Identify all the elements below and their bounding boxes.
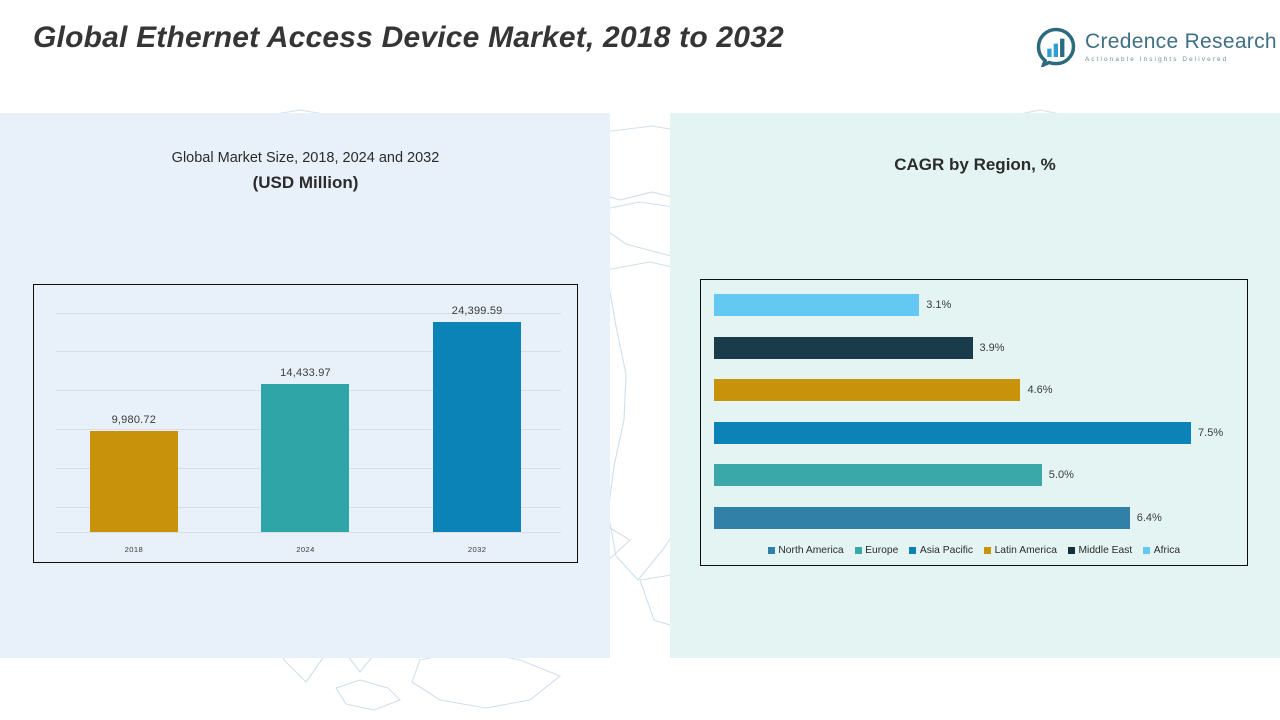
bar-label-2024: 2024 xyxy=(228,545,383,554)
brand-logo: Credence Research Actionable Insights De… xyxy=(1036,27,1277,67)
hbar-value-latin-america: 4.6% xyxy=(1027,384,1052,396)
hbar-value-asia-pacific: 7.5% xyxy=(1198,427,1223,439)
bar-label-2032: 2032 xyxy=(400,545,555,554)
hbar-value-middle-east: 3.9% xyxy=(980,342,1005,354)
hbar-latin-america[interactable] xyxy=(714,379,1020,401)
left-chart-heading-line2: (USD Million) xyxy=(33,173,578,193)
bar-group-2032[interactable]: 24,399.59 2032 xyxy=(400,285,555,532)
hbar-value-north-america: 6.4% xyxy=(1137,512,1162,524)
legend-item-europe[interactable]: Europe xyxy=(855,545,899,556)
page-title: Global Ethernet Access Device Market, 20… xyxy=(33,18,793,58)
hbar-row-europe[interactable]: 5.0% xyxy=(714,464,1247,486)
hbar-row-latin-america[interactable]: 4.6% xyxy=(714,379,1247,401)
bar-label-2018: 2018 xyxy=(57,545,212,554)
legend-swatch-asia-pacific xyxy=(909,547,916,554)
hbar-row-asia-pacific[interactable]: 7.5% xyxy=(714,422,1247,444)
bar-value-2032: 24,399.59 xyxy=(452,305,503,317)
hbar-value-europe: 5.0% xyxy=(1049,469,1074,481)
hbar-north-america[interactable] xyxy=(714,507,1130,529)
hbar-row-middle-east[interactable]: 3.9% xyxy=(714,337,1247,359)
bar-value-2018: 9,980.72 xyxy=(112,414,156,426)
market-size-bar-chart: 9,980.72 2018 14,433.97 2024 24,399.59 2… xyxy=(33,284,578,563)
legend-swatch-africa xyxy=(1143,547,1150,554)
logo-name: Credence Research xyxy=(1085,31,1277,53)
bar-2018[interactable] xyxy=(90,431,178,532)
bar-2024[interactable] xyxy=(261,384,349,532)
legend-item-africa[interactable]: Africa xyxy=(1143,545,1180,556)
legend-swatch-europe xyxy=(855,547,862,554)
legend-item-asia-pacific[interactable]: Asia Pacific xyxy=(909,545,973,556)
legend-swatch-latin-america xyxy=(984,547,991,554)
hbar-europe[interactable] xyxy=(714,464,1042,486)
speech-bubble-bar-chart-icon xyxy=(1036,27,1076,67)
legend-label-africa: Africa xyxy=(1154,545,1180,556)
hbar-asia-pacific[interactable] xyxy=(714,422,1191,444)
legend-item-latin-america[interactable]: Latin America xyxy=(984,545,1057,556)
legend-label-europe: Europe xyxy=(865,545,898,556)
logo-tagline: Actionable Insights Delivered xyxy=(1085,56,1277,63)
right-chart-heading: CAGR by Region, % xyxy=(670,155,1280,175)
chart-legend: North America Europe Asia Pacific Latin … xyxy=(701,545,1247,556)
bar-group-2018[interactable]: 9,980.72 2018 xyxy=(57,285,212,532)
cagr-by-region-bar-chart: 3.1% 3.9% 4.6% 7.5% 5.0% 6.4% xyxy=(700,279,1248,566)
legend-label-latin-america: Latin America xyxy=(995,545,1057,556)
legend-swatch-north-america xyxy=(768,547,775,554)
bar-group-2024[interactable]: 14,433.97 2024 xyxy=(228,285,383,532)
bar-value-2024: 14,433.97 xyxy=(280,367,331,379)
logo-text-block: Credence Research Actionable Insights De… xyxy=(1085,31,1277,63)
legend-item-middle-east[interactable]: Middle East xyxy=(1068,545,1132,556)
hbar-row-north-america[interactable]: 6.4% xyxy=(714,507,1247,529)
vertical-bars-container: 9,980.72 2018 14,433.97 2024 24,399.59 2… xyxy=(34,285,577,562)
hbar-africa[interactable] xyxy=(714,294,919,316)
left-chart-heading-line1: Global Market Size, 2018, 2024 and 2032 xyxy=(172,150,440,166)
legend-label-middle-east: Middle East xyxy=(1078,545,1132,556)
legend-swatch-middle-east xyxy=(1068,547,1075,554)
legend-item-north-america[interactable]: North America xyxy=(768,545,844,556)
legend-label-asia-pacific: Asia Pacific xyxy=(920,545,973,556)
bar-2032[interactable] xyxy=(433,322,521,532)
left-chart-heading: Global Market Size, 2018, 2024 and 2032 … xyxy=(33,150,578,193)
hbar-row-africa[interactable]: 3.1% xyxy=(714,294,1247,316)
hbar-middle-east[interactable] xyxy=(714,337,973,359)
legend-label-north-america: North America xyxy=(778,545,843,556)
horizontal-bars-container: 3.1% 3.9% 4.6% 7.5% 5.0% 6.4% xyxy=(701,294,1247,529)
hbar-value-africa: 3.1% xyxy=(926,299,951,311)
infographic-canvas: Global Ethernet Access Device Market, 20… xyxy=(0,0,1280,720)
